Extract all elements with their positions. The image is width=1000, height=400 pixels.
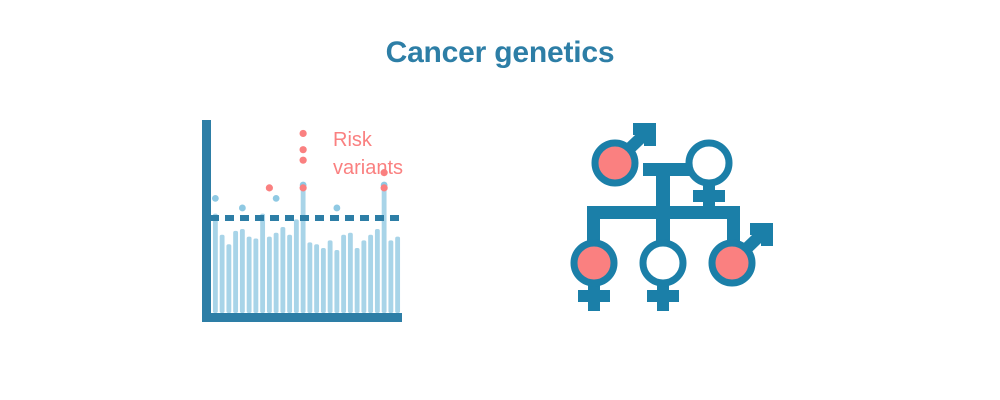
- pedigree-chart: [574, 129, 767, 311]
- manhattan-bar: [368, 235, 373, 313]
- pedigree-member-child-1[interactable]: [574, 243, 614, 311]
- manhattan-bar: [247, 237, 252, 313]
- manhattan-bar: [334, 250, 339, 313]
- x-axis-spine: [202, 313, 402, 322]
- risk-label-word-1: Risk: [333, 129, 373, 151]
- manhattan-bar: [253, 239, 258, 313]
- sibship-drop-child-3: [727, 206, 740, 241]
- manhattan-point: [333, 205, 340, 212]
- risk-variant-point: [300, 157, 307, 164]
- risk-variant-point: [266, 184, 273, 191]
- manhattan-bar: [233, 231, 238, 313]
- child-3-symbol-circle: [712, 243, 752, 283]
- risk-label-word-2: variants: [333, 157, 403, 179]
- mother-symbol-circle: [689, 143, 729, 183]
- manhattan-bar: [280, 227, 285, 313]
- pedigree-member-mother[interactable]: [689, 143, 729, 211]
- manhattan-bar: [355, 248, 360, 313]
- venus-cross-horizontal: [693, 190, 725, 202]
- pedigree-member-child-2[interactable]: [643, 243, 683, 311]
- manhattan-points-blue: [212, 182, 388, 212]
- manhattan-bar: [314, 244, 319, 313]
- risk-variant-point: [300, 184, 307, 191]
- manhattan-bar: [267, 237, 272, 313]
- manhattan-point: [239, 205, 246, 212]
- manhattan-bar: [388, 240, 393, 313]
- father-symbol-circle: [595, 143, 635, 183]
- manhattan-bar: [213, 214, 218, 313]
- manhattan-bar: [226, 244, 231, 313]
- child-2-symbol-circle: [643, 243, 683, 283]
- manhattan-bar: [321, 248, 326, 313]
- manhattan-bar: [328, 240, 333, 313]
- manhattan-bar: [307, 242, 312, 313]
- manhattan-bar: [375, 229, 380, 313]
- manhattan-bar: [294, 219, 299, 313]
- pedigree-member-father[interactable]: [595, 129, 650, 183]
- risk-variant-point: [381, 184, 388, 191]
- manhattan-bar: [260, 214, 265, 313]
- manhattan-bar: [301, 187, 306, 313]
- child-1-symbol-circle: [574, 243, 614, 283]
- risk-variants-label: Risk variants: [333, 129, 403, 179]
- manhattan-bar: [220, 235, 225, 313]
- sibship-drop-child-2: [656, 206, 670, 241]
- manhattan-bar: [274, 233, 279, 313]
- manhattan-bar: [382, 187, 387, 313]
- illustration-canvas: Cancer genetics Risk variants Risk: [0, 0, 1000, 400]
- risk-variant-point: [300, 130, 307, 137]
- risk-variant-point: [300, 146, 307, 153]
- venus-cross-horizontal: [647, 290, 679, 302]
- manhattan-bar: [361, 240, 366, 313]
- y-axis-spine: [202, 120, 211, 322]
- manhattan-bar: [287, 235, 292, 313]
- sibship-drop-child-1: [587, 206, 600, 241]
- manhattan-plot: Risk variants Risk variants: [202, 120, 403, 322]
- illustration-svg: Risk variants Risk variants: [0, 0, 1000, 400]
- manhattan-point: [273, 195, 280, 202]
- manhattan-bar: [240, 229, 245, 313]
- manhattan-bar: [341, 235, 346, 313]
- venus-cross-horizontal: [578, 290, 610, 302]
- manhattan-bar: [348, 233, 353, 313]
- manhattan-point: [212, 195, 219, 202]
- manhattan-bar: [395, 237, 400, 313]
